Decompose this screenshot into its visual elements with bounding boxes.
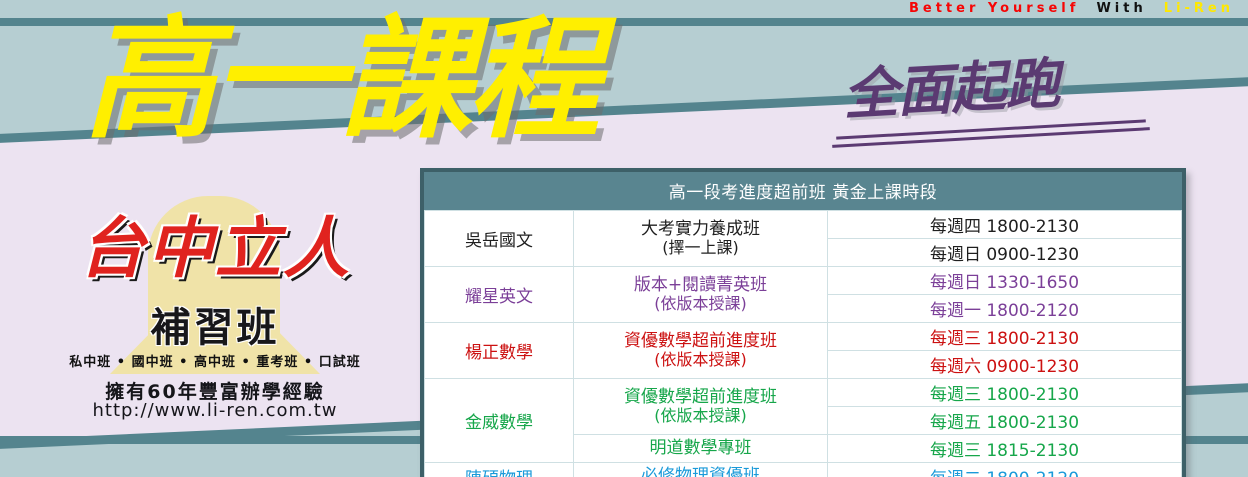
schedule-course-title: 資優數學超前進度班 [624,331,777,351]
tagline-part-black: With [1096,1,1146,16]
schedule-time-cell: 每週三 1815-2130 [828,435,1182,463]
schedule-course-title: 明道數學專班 [650,438,752,458]
schedule-course-note: (依版本授課) [574,295,827,313]
poster-canvas: Better Yourself With Li-Ren 高一課程 全面起跑 台中… [0,0,1248,477]
schedule-course-cell: 資優數學超前進度班(依版本授課) [574,379,828,435]
schedule-subject-cell: 金威數學 [425,379,574,463]
tagline-part-red: Better Yourself [909,1,1079,16]
schedule-course-cell: 版本+閱讀菁英班(依版本授課) [574,267,828,323]
schedule-time-cell: 每週二 1800-2120 [828,463,1182,477]
schedule-table-panel: 高一段考進度超前班 黃金上課時段 吳岳國文大考實力養成班(擇一上課)每週四 18… [420,168,1186,477]
schedule-course-note: (依版本授課) [574,407,827,425]
schedule-time-cell: 每週一 1800-2120 [828,295,1182,323]
logo-website-url[interactable]: http://www.li-ren.com.tw [30,400,400,421]
schedule-course-cell: 大考實力養成班(擇一上課) [574,211,828,267]
schedule-time-cell: 每週六 0900-1230 [828,351,1182,379]
schedule-time-cell: 每週五 1800-2130 [828,407,1182,435]
tagline-part-yellow: Li-Ren [1164,1,1234,16]
table-row: 吳岳國文大考實力養成班(擇一上課)每週四 1800-2130 [425,211,1182,239]
schedule-course-cell: 資優數學超前進度班(依版本授課) [574,323,828,379]
schedule-course-title: 版本+閱讀菁英班 [634,275,767,295]
schedule-table-header: 高一段考進度超前班 黃金上課時段 [424,172,1182,210]
table-row: 陳碩物理必修物理資優班每週二 1800-2120 [425,463,1182,477]
logo-name-sub: 補習班 [30,308,400,348]
schedule-time-cell: 每週三 1800-2130 [828,323,1182,351]
schedule-course-cell: 必修物理資優班 [574,463,828,477]
brand-logo: 台中立人 補習班 私中班 • 國中班 • 高中班 • 重考班 • 口試班 擁有6… [30,196,400,421]
schedule-table: 吳岳國文大考實力養成班(擇一上課)每週四 1800-2130每週日 0900-1… [424,210,1182,477]
page-subtitle: 全面起跑 [842,56,1061,123]
table-row: 金威數學資優數學超前進度班(依版本授課)每週三 1800-2130 [425,379,1182,407]
schedule-course-cell: 明道數學專班 [574,435,828,463]
schedule-time-cell: 每週日 1330-1650 [828,267,1182,295]
schedule-subject-cell: 吳岳國文 [425,211,574,267]
table-row: 楊正數學資優數學超前進度班(依版本授課)每週三 1800-2130 [425,323,1182,351]
schedule-course-note: (擇一上課) [574,239,827,257]
schedule-time-cell: 每週四 1800-2130 [828,211,1182,239]
schedule-course-title: 資優數學超前進度班 [624,387,777,407]
schedule-subject-cell: 耀星英文 [425,267,574,323]
schedule-course-title: 大考實力養成班 [641,219,760,239]
page-title: 高一課程 [84,14,596,146]
schedule-course-note: (依版本授課) [574,351,827,369]
schedule-course-title: 必修物理資優班 [641,466,760,477]
logo-name: 台中立人 [30,214,400,283]
schedule-subject-cell: 陳碩物理 [425,463,574,477]
schedule-time-cell: 每週三 1800-2130 [828,379,1182,407]
schedule-subject-cell: 楊正數學 [425,323,574,379]
table-row: 耀星英文版本+閱讀菁英班(依版本授課)每週日 1330-1650 [425,267,1182,295]
schedule-time-cell: 每週日 0900-1230 [828,239,1182,267]
logo-class-list: 私中班 • 國中班 • 高中班 • 重考班 • 口試班 [30,351,400,370]
